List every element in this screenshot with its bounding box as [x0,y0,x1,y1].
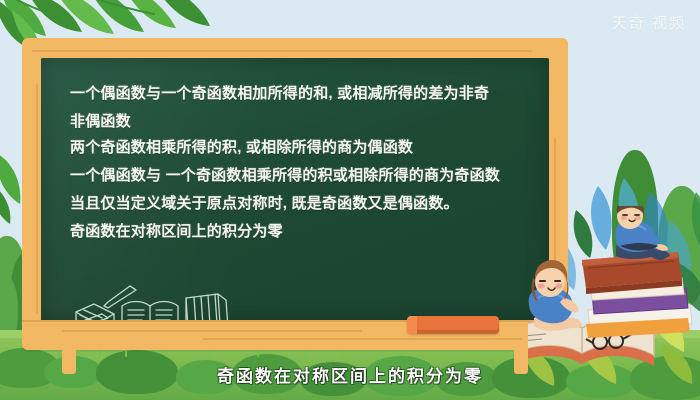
chalk-line-4: 一个偶函数与 一个奇函数相乘所得的积或相除所得的商为奇函数 [70,168,550,183]
children-reading-illustration [528,206,700,386]
subtitle-caption: 奇函数在对称区间上的积分为零 [0,362,700,387]
chalk-line-1: 一个偶函数与一个奇函数相加所得的和, 或相减所得的差为非奇 [70,86,550,101]
watermark: 天奇 视频 [612,12,686,33]
child-reading-on-book [529,260,582,331]
chalk-eraser[interactable] [407,316,499,334]
chalk-line-3: 两个奇函数相乘所得的积, 或相除所得的商为偶函数 [70,140,550,155]
chalk-line-2: 非偶函数 [70,114,550,129]
screenshot-stage: 一个偶函数与一个奇函数相加所得的和, 或相减所得的差为非奇 非偶函数 两个奇函数… [0,0,700,400]
chalk-line-6: 奇函数在对称区间上的积分为零 [70,224,550,239]
chalk-line-5: 当且仅当定义域关于原点对称时, 既是奇函数又是偶函数。 [70,196,550,211]
child-on-book-stack [615,206,670,260]
chalk-text-block: 一个偶函数与一个奇函数相加所得的和, 或相减所得的差为非奇 非偶函数 两个奇函数… [70,86,550,252]
chalk-eraser-band [407,316,417,334]
